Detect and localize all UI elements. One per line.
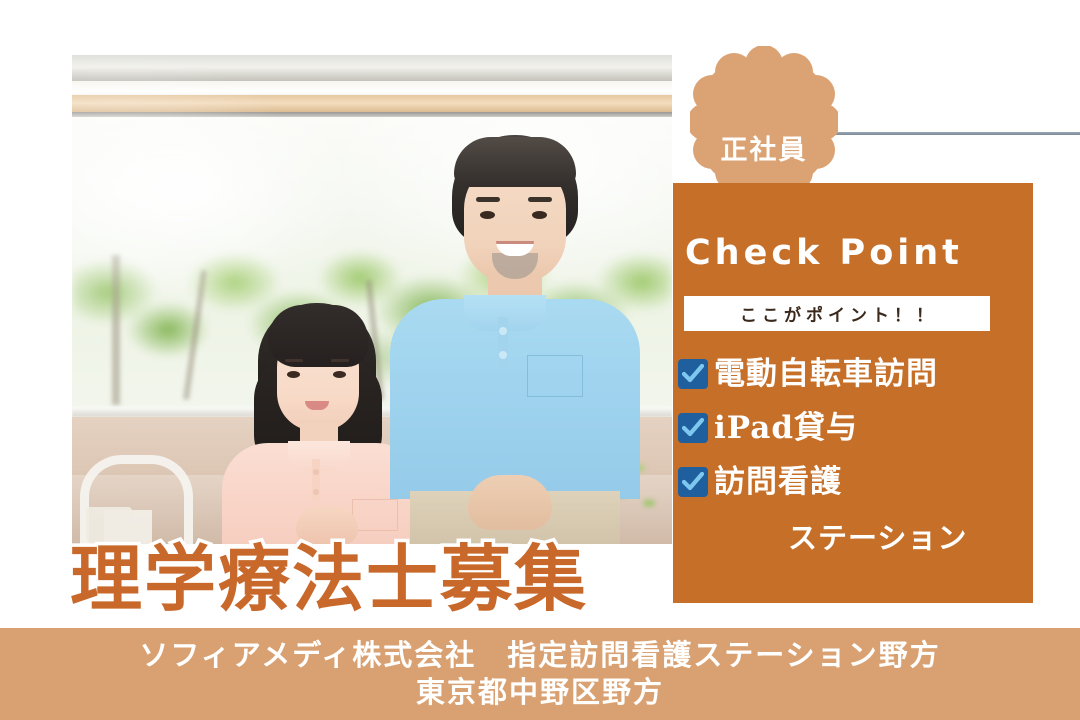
photo-rail-shadow	[72, 112, 672, 117]
photo-woman-brow	[331, 359, 349, 362]
check-point-heading: Check Point	[685, 233, 963, 273]
check-point-list: 電動自転車訪問 iPad貸与 訪問看護 ステーション	[678, 353, 1028, 557]
poster-canvas: 正社員 Check Point ここがポイント！！ 電動自転車訪問 iPad貸与	[0, 0, 1080, 720]
photo-woman-bangs	[268, 305, 368, 367]
employment-type-badge: 正社員	[690, 46, 838, 198]
photo-curtain-rail	[72, 95, 672, 113]
photo-man-eye	[480, 211, 495, 219]
photo-woman-button	[313, 489, 319, 495]
photo-man-hands	[468, 475, 552, 530]
photo-man-eye	[532, 211, 547, 219]
header-rule	[800, 132, 1080, 135]
list-item: iPad貸与	[678, 407, 1028, 449]
photo-man-button	[499, 351, 507, 359]
photo-man-pocket	[527, 355, 583, 397]
employment-type-label: 正社員	[690, 128, 838, 167]
check-point-subheading-box: ここがポイント！！	[684, 296, 990, 331]
photo-man-brow	[528, 197, 552, 202]
photo-man-button	[499, 327, 507, 335]
page-title: 理学療法士募集	[70, 543, 588, 615]
list-item: 訪問看護	[678, 461, 1028, 503]
photo-man-placket	[498, 317, 508, 369]
check-point-item-continuation: ステーション	[788, 515, 1028, 557]
checkbox-checked-icon	[678, 359, 708, 389]
photo-tree-trunk	[112, 255, 120, 405]
photo-man-hairline	[454, 137, 576, 187]
photo-woman-pocket	[352, 499, 398, 531]
photo-woman-button	[313, 469, 319, 475]
photo-woman-eye	[287, 371, 300, 378]
company-address: 東京都中野区野方	[416, 674, 664, 711]
photo-woman-brow	[285, 359, 303, 362]
check-point-panel: Check Point ここがポイント！！ 電動自転車訪問 iPad貸与	[673, 183, 1033, 603]
staff-photo	[72, 55, 672, 544]
list-item: 電動自転車訪問	[678, 353, 1028, 395]
photo-man-brow	[476, 197, 500, 202]
checkbox-checked-icon	[678, 467, 708, 497]
check-point-item-label: iPad貸与	[714, 413, 858, 444]
check-point-item-label: 電動自転車訪問	[714, 359, 938, 390]
photo-woman-eye	[333, 371, 346, 378]
checkbox-checked-icon	[678, 413, 708, 443]
company-name: ソフィアメディ株式会社 指定訪問看護ステーション野方	[139, 637, 940, 674]
check-point-item-label: 訪問看護	[714, 467, 842, 498]
scallop-badge-icon	[690, 46, 838, 198]
footer-bar: ソフィアメディ株式会社 指定訪問看護ステーション野方 東京都中野区野方	[0, 628, 1080, 720]
check-point-subheading: ここがポイント！！	[736, 301, 938, 326]
